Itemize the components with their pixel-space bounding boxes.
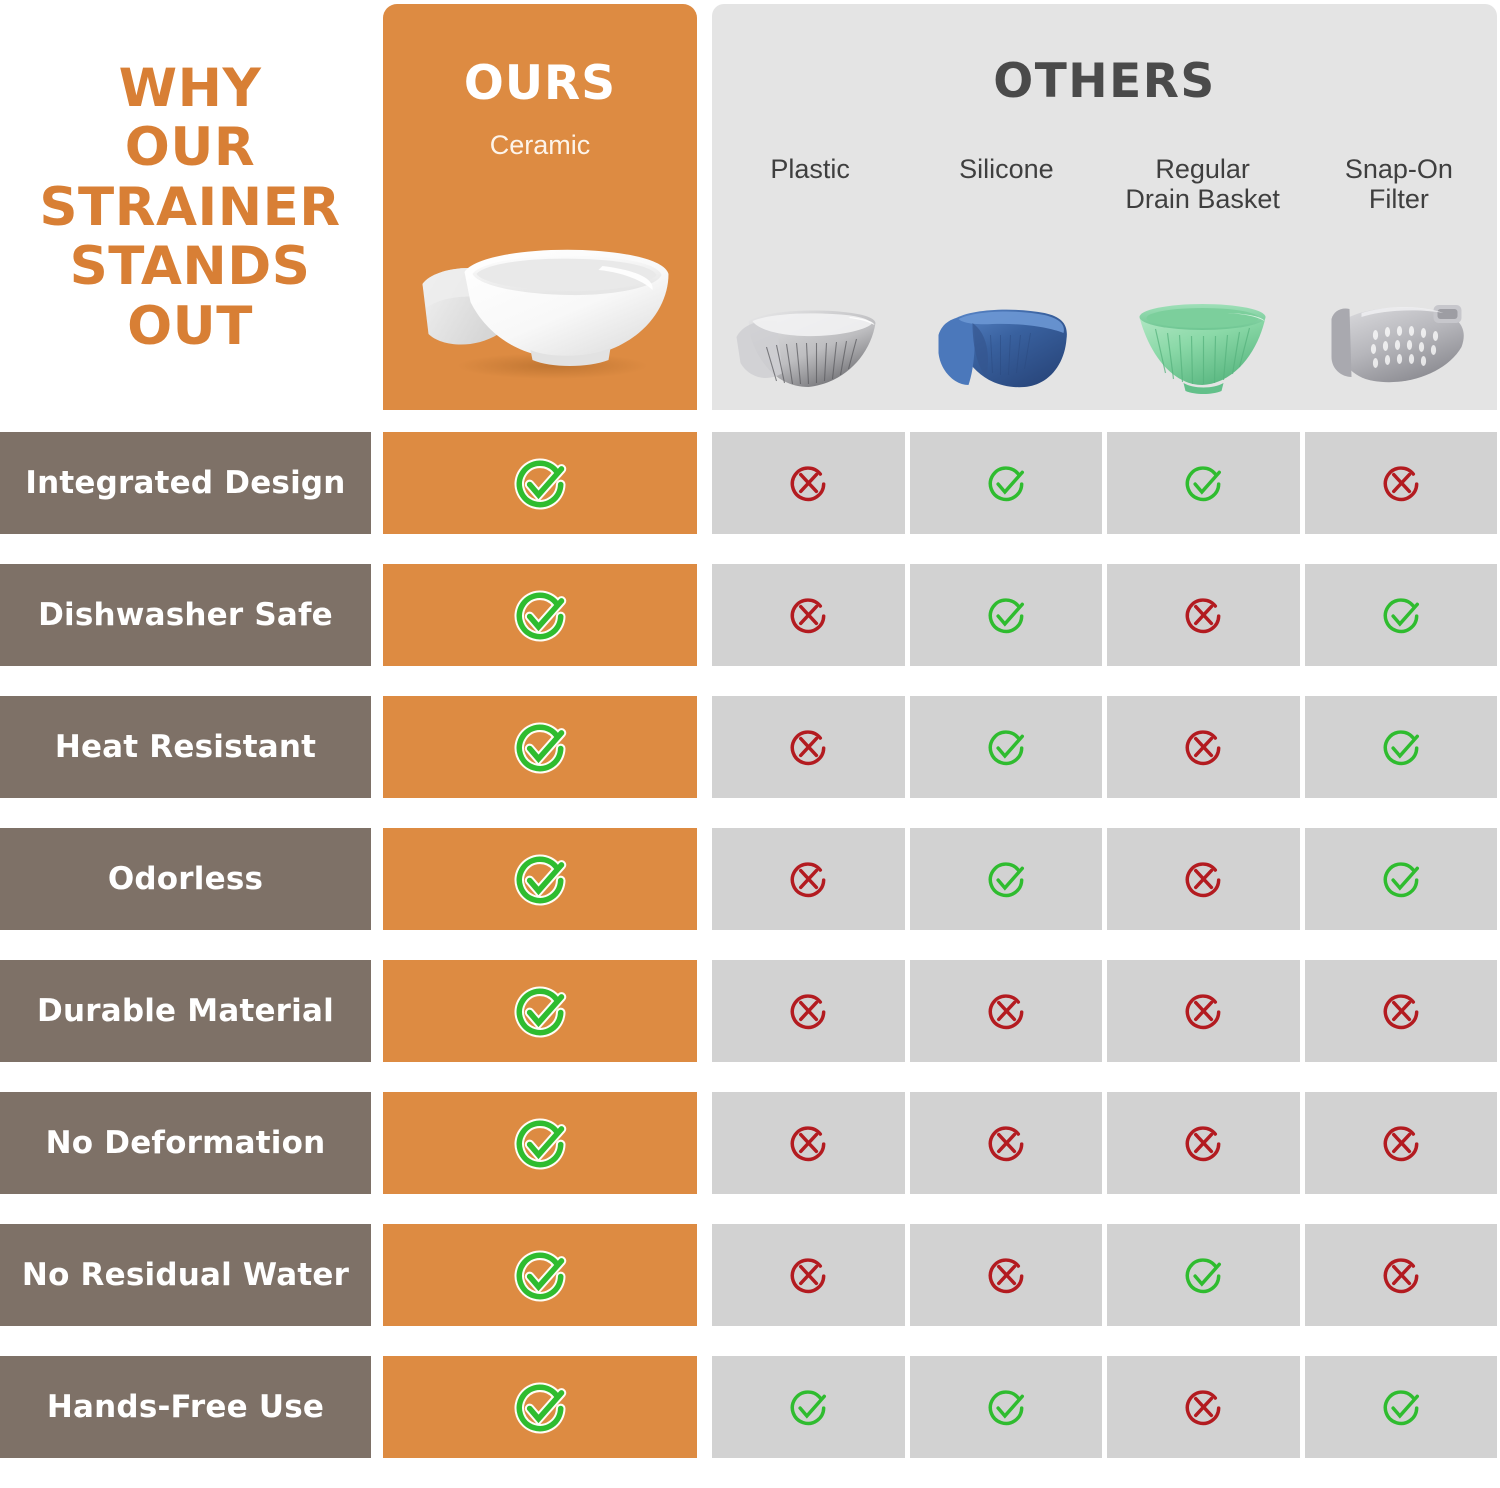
cell-other-1: [910, 432, 1103, 534]
circle-cross-icon: [1175, 587, 1231, 643]
circle-cross-icon: [1373, 983, 1429, 1039]
cell-ours: [383, 1092, 697, 1194]
green-drain-basket-icon: [1125, 291, 1280, 396]
other-cells: [712, 1092, 1497, 1194]
other-column-plastic: Plastic: [712, 154, 908, 404]
cell-other-3: [1305, 828, 1498, 930]
circle-check-icon: [1175, 455, 1231, 511]
cell-other-0: [712, 564, 905, 666]
comparison-rows: Integrated Design: [0, 432, 1500, 1488]
feature-label: Integrated Design: [25, 465, 345, 501]
feature-label: Hands-Free Use: [47, 1389, 324, 1425]
comparison-row: Heat Resistant: [0, 696, 1500, 798]
circle-check-icon: [503, 974, 577, 1048]
cell-other-2: [1107, 1356, 1300, 1458]
others-heading: OTHERS: [712, 54, 1497, 109]
other-cells: [712, 960, 1497, 1062]
circle-check-icon: [503, 842, 577, 916]
feature-label: Dishwasher Safe: [38, 597, 333, 633]
other-column-label: Snap-On Filter: [1345, 154, 1453, 214]
circle-check-icon: [1373, 1379, 1429, 1435]
circle-check-icon: [1373, 851, 1429, 907]
comparison-row: Dishwasher Safe: [0, 564, 1500, 666]
cell-other-1: [910, 960, 1103, 1062]
other-cells: [712, 564, 1497, 666]
clear-plastic-strainer-icon: [733, 291, 888, 396]
cell-ours: [383, 960, 697, 1062]
circle-check-icon: [978, 719, 1034, 775]
circle-cross-icon: [780, 851, 836, 907]
cell-other-1: [910, 1224, 1103, 1326]
circle-cross-icon: [1175, 1115, 1231, 1171]
circle-cross-icon: [1175, 1379, 1231, 1435]
circle-cross-icon: [978, 983, 1034, 1039]
comparison-row: No Residual Water: [0, 1224, 1500, 1326]
other-cells: [712, 828, 1497, 930]
ours-heading: OURS: [383, 56, 697, 111]
circle-cross-icon: [780, 587, 836, 643]
circle-check-icon: [780, 1379, 836, 1435]
circle-check-icon: [978, 455, 1034, 511]
ceramic-strainer-bowl-image: [403, 194, 678, 384]
feature-label-cell: Odorless: [0, 828, 371, 930]
feature-label: Durable Material: [37, 993, 334, 1029]
cell-other-0: [712, 960, 905, 1062]
other-cells: [712, 432, 1497, 534]
cell-other-3: [1305, 960, 1498, 1062]
feature-label: Heat Resistant: [55, 729, 316, 765]
page-title: WHY OUR STRAINER STANDS OUT: [39, 59, 340, 356]
circle-check-icon: [978, 1379, 1034, 1435]
cell-other-1: [910, 1356, 1103, 1458]
cell-other-0: [712, 1356, 905, 1458]
comparison-row: Integrated Design: [0, 432, 1500, 534]
circle-check-icon: [978, 587, 1034, 643]
cell-other-2: [1107, 564, 1300, 666]
feature-label: No Residual Water: [22, 1257, 349, 1293]
circle-cross-icon: [780, 1115, 836, 1171]
comparison-row: Hands-Free Use: [0, 1356, 1500, 1458]
other-cells: [712, 1224, 1497, 1326]
circle-cross-icon: [978, 1115, 1034, 1171]
cell-other-1: [910, 564, 1103, 666]
circle-cross-icon: [1175, 851, 1231, 907]
cell-other-3: [1305, 1356, 1498, 1458]
other-cells: [712, 696, 1497, 798]
circle-cross-icon: [780, 983, 836, 1039]
gray-snap-on-filter-icon: [1321, 291, 1476, 396]
cell-ours: [383, 696, 697, 798]
circle-cross-icon: [780, 719, 836, 775]
circle-cross-icon: [978, 1247, 1034, 1303]
comparison-row: Odorless: [0, 828, 1500, 930]
comparison-row: Durable Material: [0, 960, 1500, 1062]
other-column-regular-drain-basket: Regular Drain Basket: [1105, 154, 1301, 404]
cell-other-2: [1107, 960, 1300, 1062]
cell-other-0: [712, 1224, 905, 1326]
feature-label: No Deformation: [46, 1125, 326, 1161]
cell-other-3: [1305, 564, 1498, 666]
cell-ours: [383, 564, 697, 666]
circle-cross-icon: [1373, 455, 1429, 511]
other-column-label: Silicone: [959, 154, 1054, 184]
circle-check-icon: [503, 446, 577, 520]
comparison-header: WHY OUR STRAINER STANDS OUT OURS Ceramic: [0, 0, 1500, 415]
cell-other-1: [910, 696, 1103, 798]
circle-cross-icon: [1175, 983, 1231, 1039]
feature-label-cell: Dishwasher Safe: [0, 564, 371, 666]
cell-ours: [383, 1356, 697, 1458]
circle-check-icon: [503, 1370, 577, 1444]
circle-cross-icon: [780, 455, 836, 511]
page-title-cell: WHY OUR STRAINER STANDS OUT: [0, 0, 380, 415]
cell-other-1: [910, 828, 1103, 930]
circle-check-icon: [978, 851, 1034, 907]
cell-ours: [383, 1224, 697, 1326]
cell-other-3: [1305, 1224, 1498, 1326]
cell-other-1: [910, 1092, 1103, 1194]
feature-label-cell: No Deformation: [0, 1092, 371, 1194]
feature-label: Odorless: [108, 861, 263, 897]
cell-other-0: [712, 1092, 905, 1194]
blue-silicone-strainer-icon: [929, 291, 1084, 396]
cell-other-3: [1305, 1092, 1498, 1194]
ours-material-label: Ceramic: [383, 130, 697, 161]
circle-cross-icon: [780, 1247, 836, 1303]
cell-other-2: [1107, 1092, 1300, 1194]
cell-other-2: [1107, 696, 1300, 798]
cell-other-3: [1305, 696, 1498, 798]
circle-check-icon: [503, 1238, 577, 1312]
cell-other-0: [712, 696, 905, 798]
other-column-silicone: Silicone: [908, 154, 1104, 404]
cell-other-2: [1107, 1224, 1300, 1326]
other-column-label: Plastic: [770, 154, 850, 184]
cell-other-0: [712, 828, 905, 930]
ours-column-header: OURS Ceramic: [383, 4, 697, 410]
other-column-label: Regular Drain Basket: [1125, 154, 1280, 214]
comparison-row: No Deformation: [0, 1092, 1500, 1194]
circle-cross-icon: [1175, 719, 1231, 775]
cell-other-2: [1107, 432, 1300, 534]
other-cells: [712, 1356, 1497, 1458]
cell-other-0: [712, 432, 905, 534]
circle-check-icon: [503, 710, 577, 784]
feature-label-cell: Hands-Free Use: [0, 1356, 371, 1458]
feature-label-cell: No Residual Water: [0, 1224, 371, 1326]
other-column-snap-on-filter: Snap-On Filter: [1301, 154, 1497, 404]
others-column-list: Plastic: [712, 154, 1497, 404]
feature-label-cell: Durable Material: [0, 960, 371, 1062]
feature-label-cell: Integrated Design: [0, 432, 371, 534]
cell-other-3: [1305, 432, 1498, 534]
circle-check-icon: [503, 578, 577, 652]
circle-check-icon: [1373, 587, 1429, 643]
cell-other-2: [1107, 828, 1300, 930]
cell-ours: [383, 828, 697, 930]
cell-ours: [383, 432, 697, 534]
feature-label-cell: Heat Resistant: [0, 696, 371, 798]
circle-check-icon: [1175, 1247, 1231, 1303]
circle-check-icon: [1373, 719, 1429, 775]
circle-cross-icon: [1373, 1115, 1429, 1171]
circle-check-icon: [503, 1106, 577, 1180]
circle-cross-icon: [1373, 1247, 1429, 1303]
others-column-header: OTHERS Plastic: [712, 4, 1497, 410]
